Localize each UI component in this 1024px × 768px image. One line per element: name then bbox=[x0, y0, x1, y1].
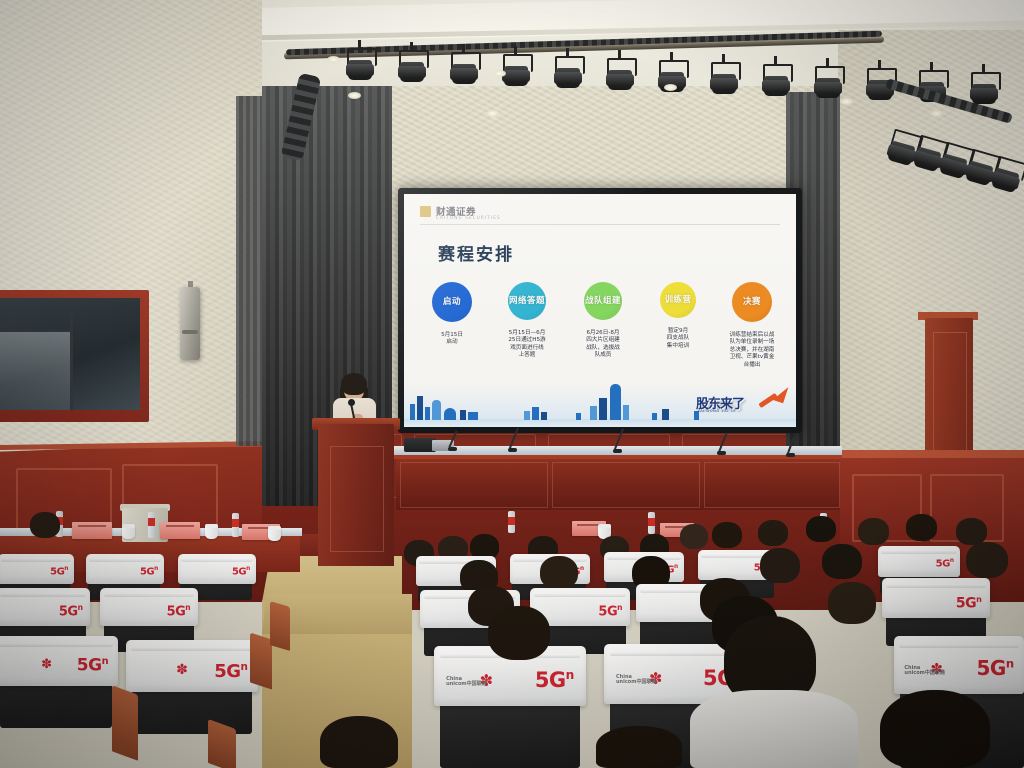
flow-node-0: 启动 bbox=[432, 282, 472, 322]
seat-cover: 5Gn bbox=[878, 546, 960, 577]
seat-5g-logo: 5Gn bbox=[140, 567, 158, 577]
teacup bbox=[205, 524, 218, 539]
microphone-base bbox=[508, 448, 517, 452]
seat-cover: 5Gn bbox=[178, 554, 256, 584]
audience-head bbox=[488, 606, 550, 660]
unicom-wordmark: Chinaunicom中国联通 bbox=[616, 675, 656, 686]
recessed-downlight bbox=[348, 92, 361, 99]
audience-head bbox=[680, 524, 708, 549]
seat-5g-logo: 5Gn bbox=[598, 604, 622, 618]
show-logo-subtitle: GU DONG LAI LE bbox=[698, 409, 736, 413]
audience-head bbox=[966, 542, 1008, 578]
slide-logo-mark bbox=[420, 206, 431, 217]
wall-loudspeaker bbox=[180, 287, 200, 360]
audience-head bbox=[806, 516, 836, 542]
seat-cover: 5Gn bbox=[0, 554, 74, 584]
audience-head bbox=[758, 520, 788, 546]
flow-caption-0: 5月15日启动 bbox=[417, 332, 487, 347]
audience-head bbox=[540, 556, 578, 589]
seat-armrest bbox=[270, 601, 290, 651]
audience-head bbox=[712, 522, 742, 548]
podium-front-panel bbox=[330, 446, 384, 552]
window-mullion-vertical bbox=[70, 298, 73, 410]
microphone-base bbox=[448, 447, 457, 451]
water-bottle bbox=[648, 512, 655, 534]
head-table-panel bbox=[552, 462, 700, 508]
water-bottle bbox=[508, 511, 515, 533]
seat-cover: 5Gn bbox=[0, 588, 90, 626]
head-table-panel bbox=[400, 462, 548, 508]
seat-5g-logo: 5Gn bbox=[59, 604, 83, 618]
window-reflection bbox=[0, 332, 73, 410]
slide-flow-diagram: 启动 5月15日启动 网络答题 5月15日—6月25日通过H5游戏页面进行线上答… bbox=[418, 282, 782, 400]
unicom-wordmark: Chinaunicom中国联通 bbox=[446, 677, 486, 688]
speaker-grill bbox=[182, 330, 198, 334]
screenshot-root: 财通证券 CAITONG SECURITIES 赛程安排 启动 5月15日启动 … bbox=[0, 0, 1024, 768]
show-logo: 股东来了 GU DONG LAI LE bbox=[692, 385, 788, 421]
microphone-base bbox=[786, 453, 795, 457]
head-table-edge bbox=[394, 455, 842, 459]
audience-head bbox=[822, 544, 862, 579]
slide-header-rule bbox=[420, 224, 780, 225]
seat-cover: 5Gn ✽ bbox=[126, 640, 258, 692]
recessed-downlight bbox=[840, 98, 853, 105]
wainscot-chair-rail bbox=[838, 450, 1024, 458]
water-bottle bbox=[232, 513, 239, 537]
audience-head-foreground bbox=[320, 716, 398, 768]
seat-cover: 5Gn ✽ Chinaunicom中国联通 bbox=[894, 636, 1024, 694]
water-bottle bbox=[148, 512, 155, 538]
name-card bbox=[72, 522, 112, 539]
name-card bbox=[160, 522, 200, 539]
seat-5g-logo: 5Gn bbox=[535, 669, 574, 691]
slide-brand-subtitle: CAITONG SECURITIES bbox=[436, 215, 501, 220]
seat-cover: 5Gn bbox=[86, 554, 164, 584]
audience-shoulders-foreground bbox=[690, 690, 858, 768]
seat-cover: 5Gn ✽ bbox=[0, 636, 118, 686]
recessed-downlight bbox=[486, 110, 499, 117]
seat-5g-logo: 5Gn bbox=[956, 595, 982, 611]
recessed-downlight bbox=[493, 70, 506, 77]
seat-cover: 5Gn bbox=[100, 588, 198, 626]
flow-node-3: 训练营 bbox=[660, 282, 696, 318]
projection-screen[interactable]: 财通证券 CAITONG SECURITIES 赛程安排 启动 5月15日启动 … bbox=[404, 194, 796, 427]
seat-5g-logo: 5Gn bbox=[936, 559, 954, 569]
podium-microphone bbox=[348, 399, 355, 406]
audience-head bbox=[760, 548, 800, 583]
unicom-mark: ✽ bbox=[176, 662, 188, 678]
logo-arrow bbox=[773, 384, 789, 404]
flow-caption-4: 训练营结束后以战队为单位录制一场总决赛，并在湖南卫视、芒果tv黄金台播出 bbox=[717, 332, 787, 369]
head-table-panel bbox=[704, 462, 840, 508]
flow-caption-1: 5月15日—6月25日通过H5游戏页面进行线上答题 bbox=[492, 330, 562, 360]
recessed-downlight bbox=[327, 56, 340, 63]
unicom-wordmark: Chinaunicom中国联通 bbox=[904, 666, 944, 677]
teacup bbox=[268, 526, 281, 541]
recessed-downlight bbox=[930, 110, 943, 117]
window-mullion-horizontal bbox=[0, 330, 73, 332]
audience-head bbox=[906, 514, 937, 541]
seat-5g-logo: 5Gn bbox=[77, 657, 108, 675]
seat-5g-logo: 5Gn bbox=[50, 567, 68, 577]
seat-5g-logo: 5Gn bbox=[977, 658, 1014, 678]
seat-armrest bbox=[112, 685, 138, 760]
microphone-base bbox=[717, 451, 726, 455]
audience-head-foreground bbox=[880, 690, 990, 768]
flow-caption-2: 6月26日-8月四大片区组建战队，选拔战队成员 bbox=[568, 330, 638, 360]
audience-head bbox=[956, 518, 987, 545]
flow-caption-3: 暂定9月四支战队集中培训 bbox=[643, 328, 713, 350]
audience-head-foreground bbox=[596, 726, 682, 768]
audience-head bbox=[828, 582, 876, 624]
teacup bbox=[122, 524, 135, 539]
unicom-mark: ✽ bbox=[41, 657, 52, 672]
seat-5g-logo: 5Gn bbox=[167, 604, 191, 618]
seat-armrest bbox=[250, 632, 272, 689]
microphone-base bbox=[613, 449, 622, 453]
flow-node-4: 决赛 bbox=[732, 282, 772, 322]
presenter-hair bbox=[341, 373, 367, 395]
recessed-downlight bbox=[664, 84, 677, 91]
slide-title: 赛程安排 bbox=[438, 240, 514, 265]
seat-cover: 5Gn bbox=[882, 578, 990, 618]
seat-5g-logo: 5Gn bbox=[232, 567, 250, 577]
audience-head bbox=[30, 512, 60, 538]
audience-head bbox=[858, 518, 889, 545]
flow-node-1: 网络答题 bbox=[508, 282, 546, 320]
seat-5g-logo: 5Gn bbox=[214, 662, 247, 681]
flow-node-2: 战队组建 bbox=[584, 282, 622, 320]
